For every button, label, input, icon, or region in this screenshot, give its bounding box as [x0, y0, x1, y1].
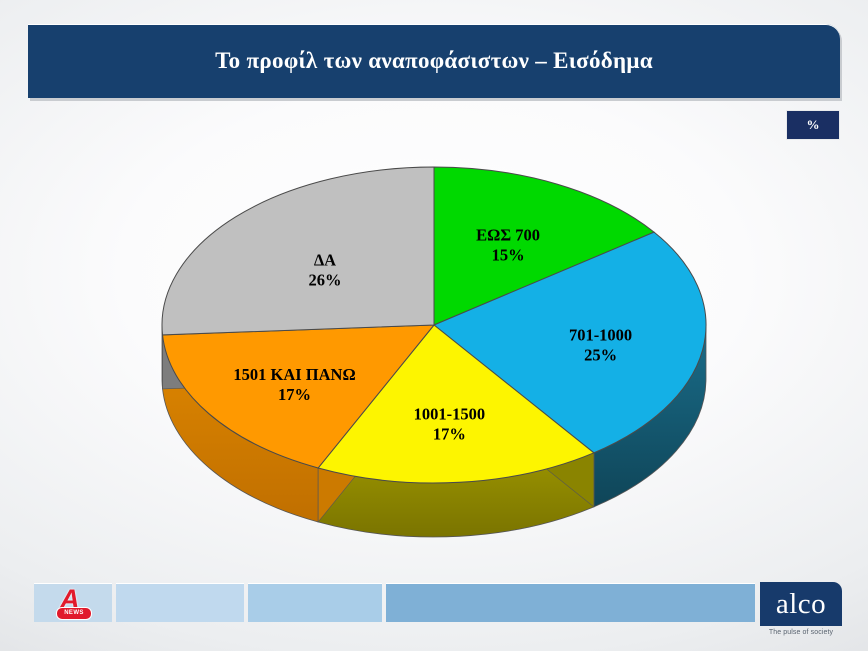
alco-logo: alco — [760, 582, 842, 626]
page-title: Το προφίλ των αναποφάσιστων – Εισόδημα — [215, 48, 653, 73]
alco-wordmark: alco — [776, 590, 826, 619]
pie-chart-container: ΕΩΣ 70015%701-100025%1001-150017%1501 ΚΑ… — [0, 150, 868, 550]
alco-tagline: The pulse of society — [760, 629, 842, 636]
slide-title-bar: Το προφίλ των αναποφάσιστων – Εισόδημα — [28, 24, 840, 98]
alpha-news-badge: NEWS — [56, 607, 92, 620]
alpha-news-logo: A NEWS — [52, 586, 96, 620]
footer-bar-2 — [116, 583, 244, 622]
pie-chart: ΕΩΣ 70015%701-100025%1001-150017%1501 ΚΑ… — [74, 150, 794, 550]
percent-unit-label: % — [807, 117, 820, 133]
pie-slice-top[interactable] — [162, 167, 434, 335]
footer-bar-3 — [248, 583, 382, 622]
percent-unit-badge: % — [786, 110, 840, 140]
footer-bar-4 — [386, 583, 755, 622]
slide-footer: A NEWS alco The pulse of society — [0, 583, 868, 651]
pie-slices-group — [162, 167, 706, 537]
